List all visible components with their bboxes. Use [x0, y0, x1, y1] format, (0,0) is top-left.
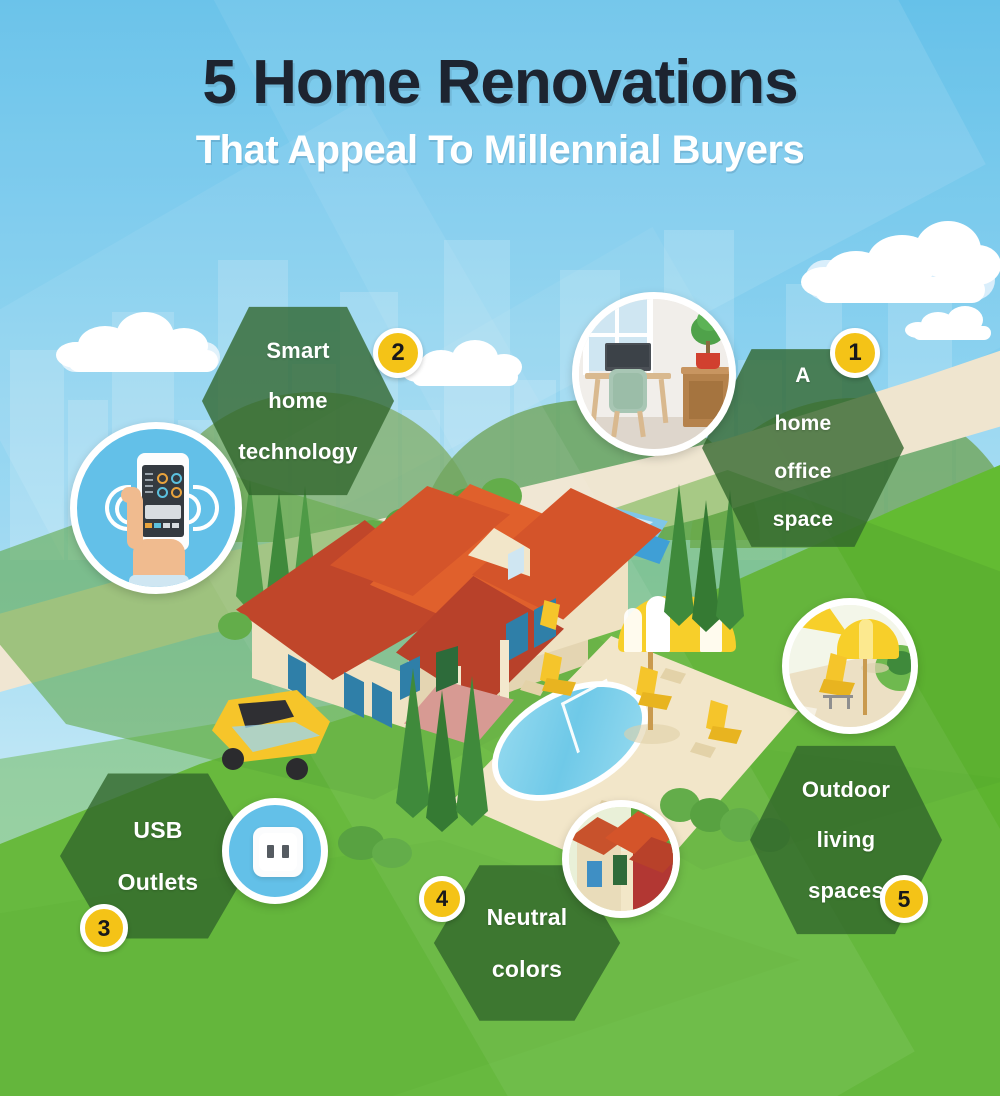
label-line: A: [763, 364, 844, 388]
title-block: 5 Home Renovations That Appeal To Millen…: [0, 52, 1000, 170]
home-office-desk-icon: [579, 299, 729, 449]
usb-outlet-icon: [229, 805, 321, 897]
callout-label-4: Neutral colors: [467, 904, 588, 983]
badge-number: 2: [391, 339, 404, 367]
page-subtitle: That Appeal To Millennial Buyers: [0, 130, 1000, 170]
badge-number: 3: [98, 915, 111, 942]
badge-4[interactable]: 4: [419, 876, 465, 922]
badge-3[interactable]: 3: [80, 904, 128, 952]
label-line: Outlets: [108, 869, 209, 895]
patio-umbrella-icon: [789, 605, 911, 727]
badge-number: 5: [898, 886, 911, 913]
label-line: USB: [108, 817, 209, 843]
house-facade-icon: [569, 807, 673, 911]
thumbnail-home-office-space[interactable]: [572, 292, 736, 456]
callout-label-3: USB Outlets: [98, 817, 219, 896]
callout-label-2: Smart home technology: [218, 338, 377, 463]
badge-number: 1: [848, 339, 861, 367]
label-line: colors: [477, 956, 578, 982]
label-line: home: [763, 412, 844, 436]
label-line: office: [763, 460, 844, 484]
thumbnail-outdoor-living-spaces[interactable]: [782, 598, 918, 734]
badge-1[interactable]: 1: [830, 328, 880, 378]
callout-label-1: A home office space: [753, 364, 854, 532]
label-line: Neutral: [477, 904, 578, 930]
badge-5[interactable]: 5: [880, 875, 928, 923]
page-title: 5 Home Renovations: [0, 52, 1000, 114]
porch-column-right: [500, 640, 509, 702]
badge-number: 4: [436, 886, 448, 912]
label-line: Outdoor: [792, 777, 900, 802]
infographic-canvas: 5 Home Renovations That Appeal To Millen…: [0, 0, 1000, 1096]
label-line: home: [228, 388, 367, 413]
thumbnail-usb-outlets[interactable]: [222, 798, 328, 904]
label-line: living: [792, 827, 900, 852]
badge-2[interactable]: 2: [373, 328, 423, 378]
thumbnail-neutral-colors[interactable]: [562, 800, 680, 918]
thumbnail-smart-home-technology[interactable]: [70, 422, 242, 594]
label-line: technology: [228, 439, 367, 464]
label-line: Smart: [228, 338, 367, 363]
smartphone-remote-icon: [77, 429, 235, 587]
label-line: space: [763, 508, 844, 532]
